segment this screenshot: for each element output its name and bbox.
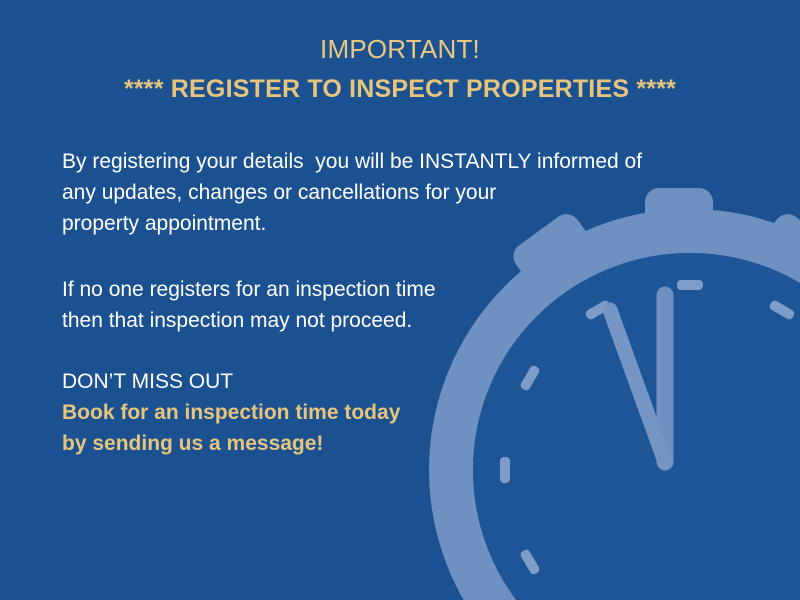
cta-dont-miss-out: DON’T MISS OUT	[62, 366, 742, 397]
headline-primary: IMPORTANT!	[0, 32, 800, 66]
paragraph-registering: By registering your details you will be …	[62, 146, 742, 239]
call-to-action-block: DON’T MISS OUT Book for an inspection ti…	[62, 366, 742, 459]
paragraph-line: then that inspection may not proceed.	[62, 305, 742, 336]
paragraph-no-registration: If no one registers for an inspection ti…	[62, 274, 742, 336]
content-layer: IMPORTANT! **** REGISTER TO INSPECT PROP…	[0, 0, 800, 600]
cta-send-message: by sending us a message!	[62, 428, 742, 459]
headline-block: IMPORTANT! **** REGISTER TO INSPECT PROP…	[0, 32, 800, 106]
slide-canvas: IMPORTANT! **** REGISTER TO INSPECT PROP…	[0, 0, 800, 600]
paragraph-line: By registering your details you will be …	[62, 146, 742, 177]
paragraph-line: property appointment.	[62, 208, 742, 239]
paragraph-line: If no one registers for an inspection ti…	[62, 274, 742, 305]
cta-book-inspection: Book for an inspection time today	[62, 397, 742, 428]
paragraph-line: any updates, changes or cancellations fo…	[62, 177, 742, 208]
headline-secondary: **** REGISTER TO INSPECT PROPERTIES ****	[0, 72, 800, 106]
